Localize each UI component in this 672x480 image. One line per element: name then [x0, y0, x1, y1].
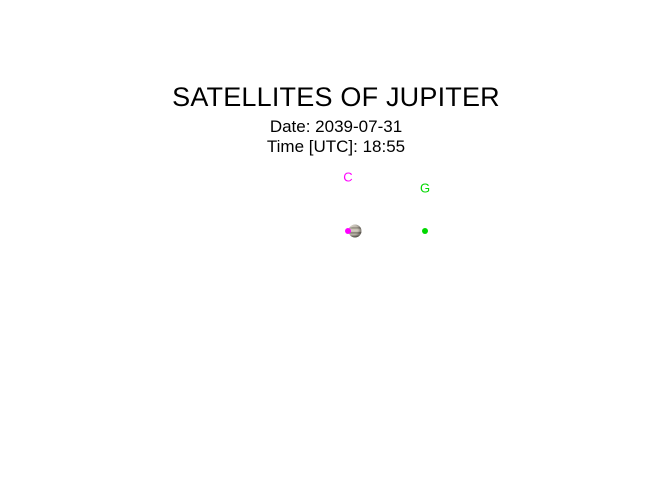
moon-label-c: C — [343, 171, 352, 184]
sky-plot-area: CG — [0, 0, 672, 480]
moon-label-g: G — [420, 182, 430, 195]
satellites-of-jupiter-chart: SATELLITES OF JUPITER Date: 2039-07-31 T… — [0, 0, 672, 480]
moon-marker-c — [345, 228, 351, 234]
moon-marker-g — [422, 228, 428, 234]
